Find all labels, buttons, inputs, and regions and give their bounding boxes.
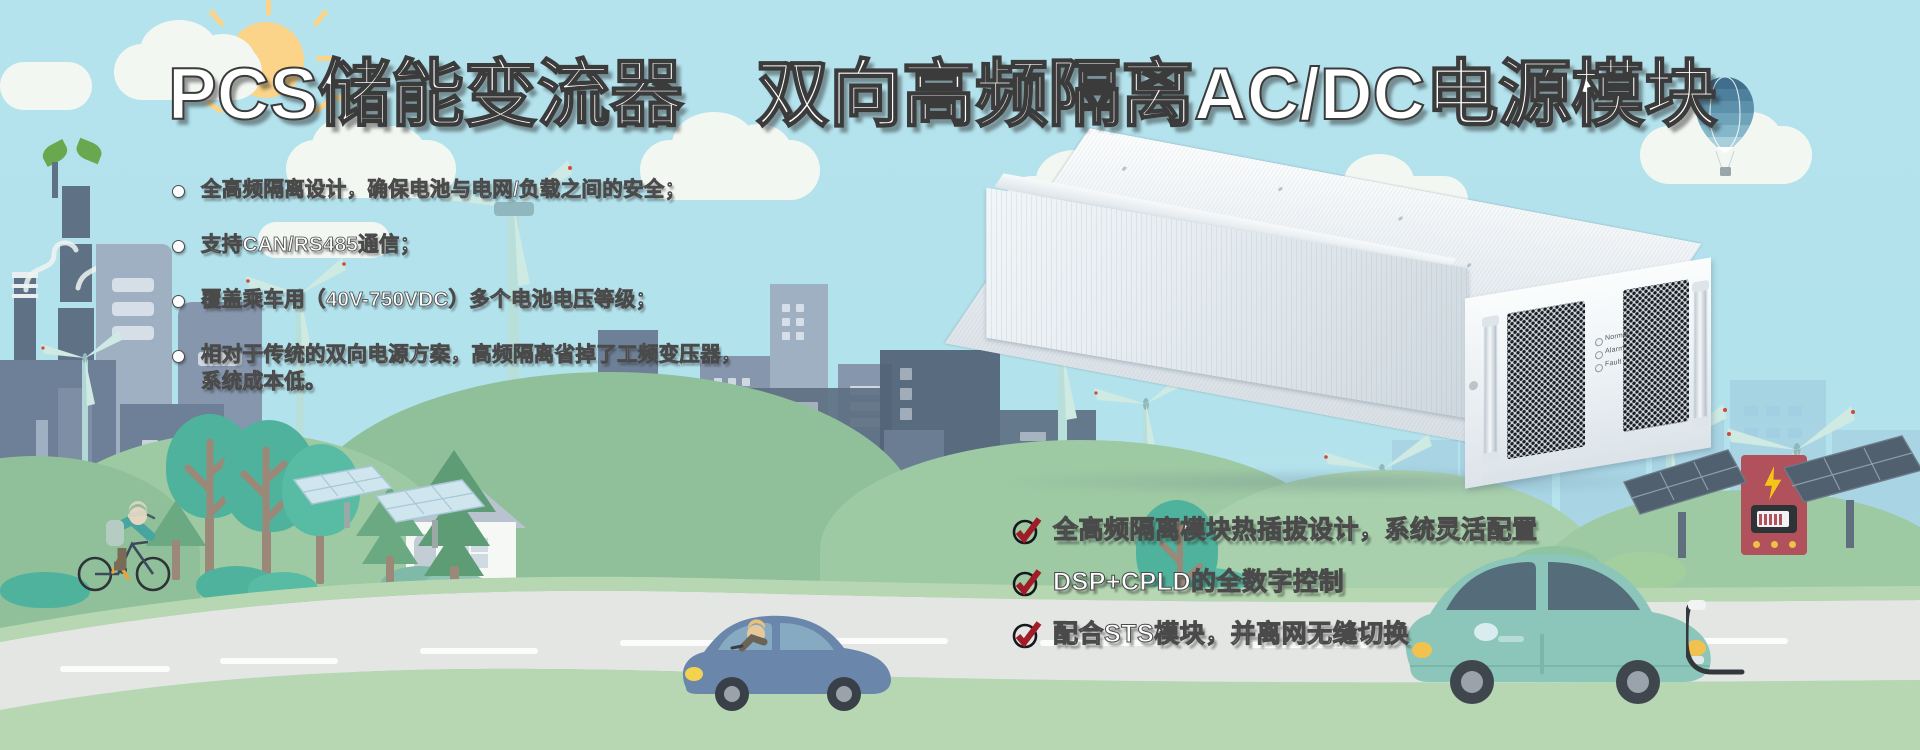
- highlight-text: 全高频隔离模块热插拔设计，系统灵活配置: [1053, 517, 1538, 545]
- feature-list: 全高频隔离设计，确保电池与电网/负载之间的安全； 支持CAN/RS485通信； …: [172, 176, 932, 423]
- vent-grille-right: [1623, 279, 1689, 432]
- led-alarm: [1595, 350, 1603, 359]
- bullet-dot-icon: [172, 240, 185, 253]
- highlight-text: DSP+CPLD的全数字控制: [1053, 569, 1344, 597]
- led-normal: [1595, 337, 1603, 346]
- feature-item: 相对于传统的双向电源方案，高频隔离省掉了工频变压器， 系统成本低。: [172, 341, 932, 395]
- highlight-item: 全高频隔离模块热插拔设计，系统灵活配置: [1012, 516, 1538, 546]
- check-circle-icon: [1012, 620, 1042, 650]
- check-circle-icon: [1012, 568, 1042, 598]
- highlight-item: DSP+CPLD的全数字控制: [1012, 568, 1538, 598]
- feature-item: 覆盖乘车用（40V-750VDC）多个电池电压等级；: [172, 286, 932, 313]
- feature-text: 全高频隔离设计，确保电池与电网/负载之间的安全；: [201, 176, 685, 203]
- car-icon: [672, 608, 912, 718]
- highlight-item: 配合STS模块，并离网无缝切换: [1012, 620, 1538, 650]
- bullet-dot-icon: [172, 295, 185, 308]
- vent-grille-left: [1507, 301, 1585, 460]
- led-fault: [1595, 363, 1603, 372]
- feature-text: 支持CAN/RS485通信；: [201, 231, 421, 258]
- bullet-dot-icon: [172, 350, 185, 363]
- led-label-fault: Fault: [1605, 358, 1622, 368]
- check-circle-icon: [1012, 516, 1042, 546]
- highlight-list: 全高频隔离模块热插拔设计，系统灵活配置 DSP+CPLD的全数字控制 配合STS…: [1012, 516, 1538, 672]
- highlight-text: 配合STS模块，并离网无缝切换: [1053, 621, 1409, 649]
- bullet-dot-icon: [172, 185, 185, 198]
- feature-item: 全高频隔离设计，确保电池与电网/负载之间的安全；: [172, 176, 932, 203]
- feature-text: 覆盖乘车用（40V-750VDC）多个电池电压等级；: [201, 286, 656, 313]
- feature-text: 相对于传统的双向电源方案，高频隔离省掉了工频变压器， 系统成本低。: [201, 341, 742, 395]
- page-title: PCS储能变流器 双向高频隔离AC/DC电源模块: [168, 58, 1717, 131]
- led-label-alarm: Alarm: [1605, 345, 1624, 355]
- feature-item: 支持CAN/RS485通信；: [172, 231, 932, 258]
- bicycle-rider-icon: [70, 470, 190, 600]
- product-image: Normal Alarm Fault: [960, 168, 1750, 513]
- banner-root: Normal Alarm Fault PCS储能变流器 双向高频隔离AC/DC电…: [0, 0, 1920, 750]
